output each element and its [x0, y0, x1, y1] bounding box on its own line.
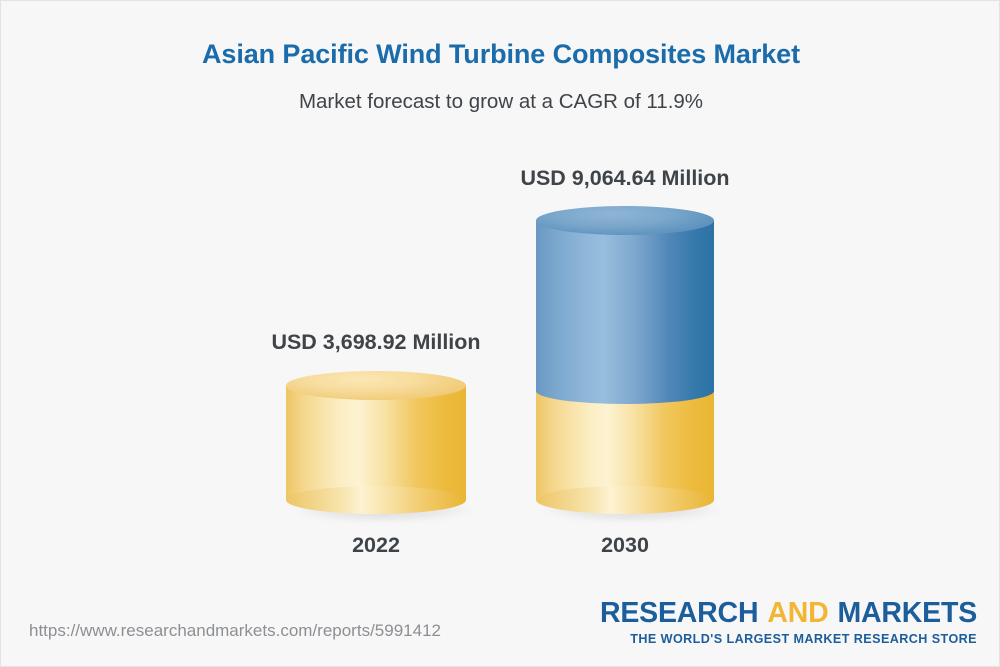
category-label-2030: 2030 — [525, 533, 725, 558]
logo-word-and: AND — [767, 597, 828, 629]
bar-top-ellipse-2022 — [286, 371, 466, 400]
bar-segment-base-2022 — [286, 385, 466, 500]
bar-segment-growth-2030 — [536, 220, 714, 392]
bar-cylinder-2030 — [536, 206, 714, 516]
value-label-2030: USD 9,064.64 Million — [435, 166, 815, 191]
source-url[interactable]: https://www.researchandmarkets.com/repor… — [29, 621, 441, 641]
value-label-2022: USD 3,698.92 Million — [186, 330, 566, 355]
bar-cylinder-2022 — [286, 371, 466, 516]
plot-area: USD 3,698.92 Million 2022 USD 9,064.64 M… — [1, 1, 1000, 601]
logo-word-markets: MARKETS — [837, 597, 977, 629]
logo-wordmark: RESEARCHANDMARKETS — [600, 599, 977, 629]
category-label-2022: 2022 — [276, 533, 476, 558]
research-and-markets-logo[interactable]: RESEARCHANDMARKETS THE WORLD'S LARGEST M… — [600, 599, 977, 646]
bar-top-ellipse-2030 — [536, 206, 714, 235]
bar-segment-divider-2030 — [536, 378, 714, 404]
bar-bottom-ellipse-2030 — [536, 486, 714, 514]
logo-tagline: THE WORLD'S LARGEST MARKET RESEARCH STOR… — [600, 632, 977, 646]
bar-bottom-ellipse-2022 — [286, 486, 466, 514]
logo-word-research: RESEARCH — [600, 597, 758, 629]
chart-canvas: Asian Pacific Wind Turbine Composites Ma… — [0, 0, 1000, 667]
